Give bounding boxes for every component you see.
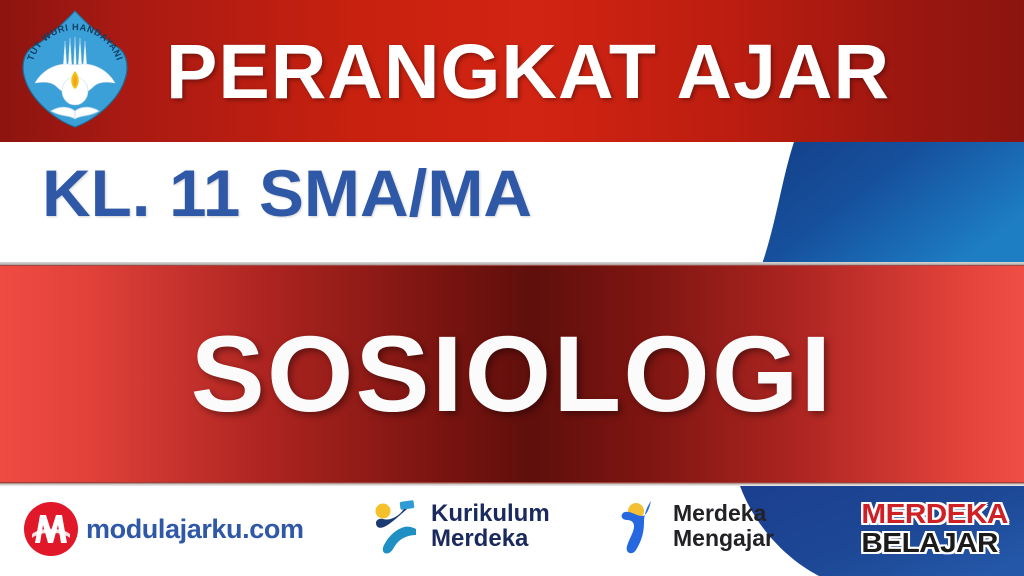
subject-title: SOSIOLOGI <box>0 266 1024 482</box>
page-title: PERANGKAT AJAR <box>166 18 1006 126</box>
merdeka-belajar-badge: MERDEKA BELAJAR <box>865 500 985 557</box>
brand-kurikulum-merdeka[interactable]: Kurikulum Merdeka <box>370 497 550 555</box>
brand-merdeka-mengajar[interactable]: Merdeka Mengajar <box>620 498 774 554</box>
kurikulum-line-1: Kurikulum <box>431 501 550 526</box>
badge-line-2: BELAJAR <box>861 529 988 557</box>
kurikulum-line-2: Merdeka <box>431 526 550 551</box>
brand-modulajarku-label: modulajarku.com <box>86 514 304 545</box>
perangkat-ajar-poster: PERANGKAT AJAR TUT WURI HANDAYANI <box>0 0 1024 576</box>
modulajarku-m-logo <box>22 500 80 558</box>
grade-band-blue-accent <box>724 142 1024 264</box>
merdeka-mengajar-logo <box>620 498 666 554</box>
brand-kurikulum-merdeka-label: Kurikulum Merdeka <box>431 501 550 552</box>
header-banner: PERANGKAT AJAR <box>0 0 1024 142</box>
kurikulum-merdeka-logo <box>370 497 424 555</box>
mengajar-line-1: Merdeka <box>673 501 774 526</box>
brand-modulajarku[interactable]: modulajarku.com <box>22 500 304 558</box>
grade-label: KL. 11 SMA/MA <box>42 160 532 226</box>
mengajar-line-2: Mengajar <box>673 526 774 551</box>
tut-wuri-handayani-logo: TUT WURI HANDAYANI <box>13 7 137 131</box>
blue-wedge-shape <box>724 142 1024 264</box>
brand-merdeka-mengajar-label: Merdeka Mengajar <box>673 501 774 551</box>
badge-line-1: MERDEKA <box>861 500 988 528</box>
